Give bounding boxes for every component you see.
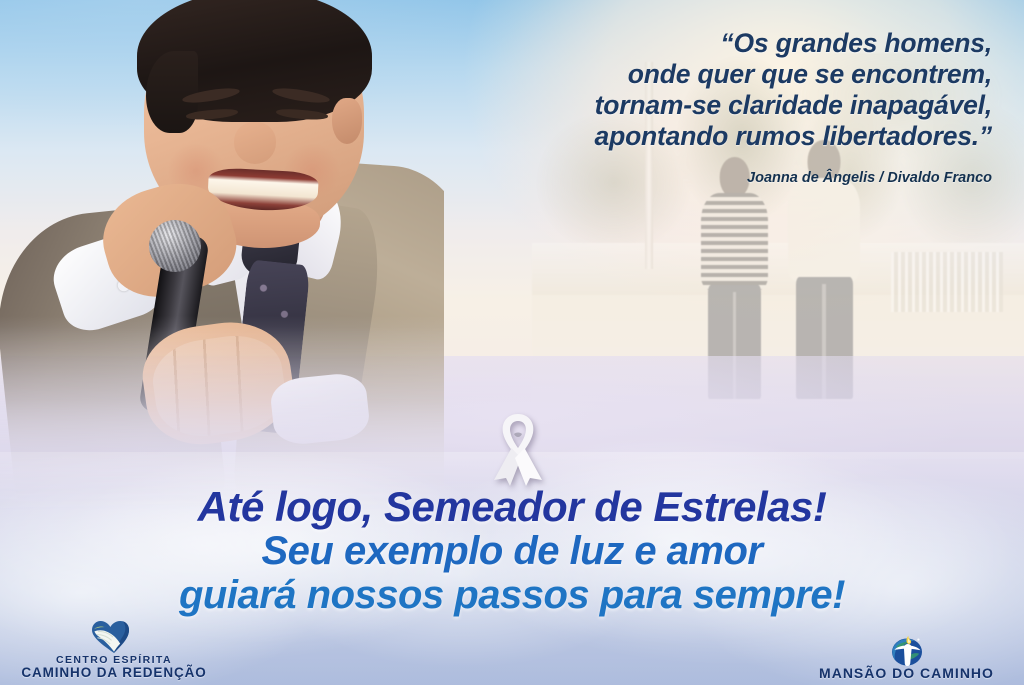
quote-line-2: onde quer que se encontrem,	[430, 59, 992, 90]
logo-centro-espirita-text: CENTRO ESPÍRITA CAMINHO DA REDENÇÃO	[14, 654, 214, 679]
globe-figure-flame-icon	[799, 633, 1014, 667]
mourning-ribbon-icon	[487, 410, 549, 486]
headline-line-3: guiará nossos passos para sempre!	[0, 573, 1024, 617]
heart-hands-icon	[14, 620, 214, 654]
logo-line-1: MANSÃO DO CAMINHO	[799, 667, 1014, 680]
portrait-divaldo-franco	[0, 0, 444, 514]
quote-attribution: Joanna de Ângelis / Divaldo Franco	[430, 170, 992, 186]
logo-mansao-do-caminho: MANSÃO DO CAMINHO	[799, 633, 1014, 680]
ear	[332, 98, 362, 144]
quote-line-3: tornam-se claridade inapagável,	[430, 90, 992, 121]
logo-mansao-text: MANSÃO DO CAMINHO	[799, 667, 1014, 680]
person-torso	[701, 193, 768, 290]
logo-line-2: CAMINHO DA REDENÇÃO	[14, 667, 214, 680]
person-torso	[788, 178, 860, 282]
quote-line-4: apontando rumos libertadores.”	[430, 121, 992, 152]
quote-line-1: “Os grandes homens,	[430, 28, 992, 59]
logo-centro-espirita: CENTRO ESPÍRITA CAMINHO DA REDENÇÃO	[14, 620, 214, 679]
headline-message: Até logo, Semeador de Estrelas! Seu exem…	[0, 484, 1024, 617]
headline-line-2: Seu exemplo de luz e amor	[0, 529, 1024, 573]
nose	[234, 122, 276, 164]
headline-line-1: Até logo, Semeador de Estrelas!	[0, 484, 1024, 529]
memorial-poster: “Os grandes homens, onde quer que se enc…	[0, 0, 1024, 685]
quote-text: “Os grandes homens, onde quer que se enc…	[430, 28, 992, 152]
scene-fence	[891, 252, 1004, 312]
